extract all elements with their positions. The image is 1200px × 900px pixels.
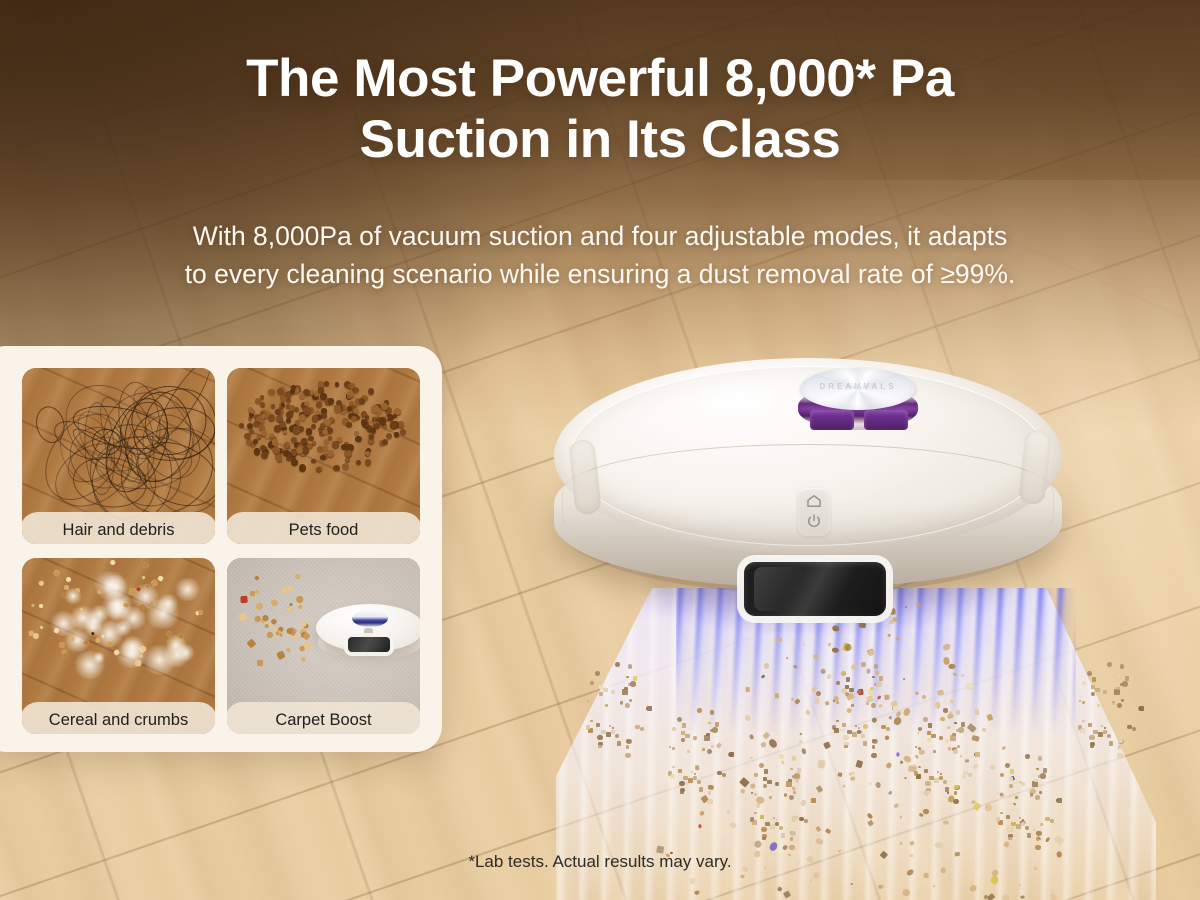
debris-particle (934, 778, 938, 782)
debris-particle (966, 683, 974, 691)
debris-particle (791, 816, 797, 822)
debris-particle (1009, 784, 1013, 788)
debris-particle (751, 792, 753, 794)
debris-particle (1088, 723, 1092, 727)
debris-particle (872, 745, 875, 748)
debris-particle (844, 745, 847, 748)
debris-particle (943, 708, 948, 713)
debris-particle (1025, 826, 1029, 830)
debris-particle (749, 734, 754, 740)
debris-particle (899, 760, 903, 764)
debris-particle (843, 735, 848, 740)
debris-particle (896, 753, 899, 757)
debris-particle (886, 727, 891, 732)
debris-particle (754, 793, 757, 796)
scenario-caption: Hair and debris (22, 512, 215, 544)
debris-particle (764, 663, 770, 670)
brand-embossing: DREAMVALS (800, 382, 916, 391)
debris-particle (975, 709, 979, 715)
lidar-metal-cap: DREAMVALS (800, 368, 916, 410)
debris-particle (668, 771, 672, 775)
debris-particle (694, 890, 700, 895)
debris-particle (1013, 802, 1017, 806)
debris-particle (851, 704, 854, 707)
debris-particle (973, 763, 979, 769)
debris-particle (784, 793, 787, 796)
debris-particle (836, 701, 839, 704)
debris-particle (845, 692, 849, 696)
debris-particle (1016, 824, 1020, 828)
debris-particle (915, 746, 917, 748)
debris-particle (595, 671, 600, 676)
debris-particle (685, 734, 690, 739)
debris-particle (954, 791, 957, 794)
debris-particle (620, 701, 623, 704)
debris-particle (765, 822, 769, 826)
debris-particle (775, 782, 779, 786)
debris-particle (939, 776, 943, 780)
debris-particle (934, 702, 940, 709)
debris-particle (699, 787, 703, 791)
debris-particle (1050, 894, 1056, 900)
debris-particle (997, 792, 999, 794)
debris-particle (943, 780, 947, 784)
debris-particle (1039, 823, 1043, 827)
debris-particle (915, 691, 919, 695)
debris-particle (1006, 815, 1010, 819)
debris-particle (1120, 664, 1125, 669)
debris-particle (1125, 676, 1129, 680)
debris-particle (809, 879, 811, 882)
debris-particle (779, 826, 783, 830)
debris-particle (694, 773, 696, 775)
debris-particle (600, 677, 604, 681)
debris-particle (1045, 837, 1051, 843)
debris-particle (1050, 819, 1055, 824)
debris-particle (925, 781, 930, 786)
debris-particle (708, 791, 711, 794)
debris-particle (958, 727, 963, 732)
debris-particle (1001, 894, 1009, 900)
debris-particle (606, 732, 610, 736)
debris-particle (615, 734, 619, 738)
debris-particle (1036, 837, 1039, 840)
debris-particle (598, 745, 601, 748)
debris-particle (704, 735, 710, 741)
debris-particle (953, 672, 958, 676)
debris-particle (806, 710, 811, 716)
scenario-grid: Hair and debrisPets foodCereal and crumb… (22, 368, 420, 734)
debris-particle (754, 773, 758, 777)
debris-particle (767, 780, 772, 785)
debris-particle (1097, 704, 1100, 707)
debris-particle (1095, 688, 1100, 693)
debris-particle (633, 676, 637, 680)
page-headline: The Most Powerful 8,000* Pa Suction in I… (0, 48, 1200, 171)
debris-particle (785, 657, 788, 660)
debris-particle (722, 773, 727, 778)
debris-particle (1122, 681, 1127, 686)
debris-particle (915, 754, 919, 759)
debris-particle (683, 776, 687, 780)
debris-particle (889, 716, 892, 719)
debris-particle (1043, 768, 1047, 772)
debris-particle (952, 733, 956, 737)
debris-particle (707, 749, 712, 754)
debris-particle (838, 773, 842, 778)
debris-particle (1040, 773, 1045, 778)
debris-particle (869, 783, 872, 786)
debris-particle (702, 747, 705, 750)
debris-particle (917, 731, 919, 734)
debris-particle (782, 844, 789, 851)
home-icon[interactable] (805, 492, 823, 510)
debris-particle (625, 703, 630, 708)
debris-particle (948, 747, 951, 750)
debris-particle (775, 822, 779, 826)
debris-particle (647, 706, 651, 710)
debris-particle (768, 841, 778, 852)
debris-particle (679, 781, 684, 786)
debris-particle (929, 776, 933, 780)
debris-particle (760, 815, 764, 819)
debris-particle (712, 727, 717, 732)
debris-particle (605, 704, 608, 707)
power-icon[interactable] (805, 512, 823, 530)
debris-particle (681, 738, 685, 742)
debris-particle (933, 885, 936, 888)
debris-particle (816, 825, 822, 831)
debris-particle (1000, 773, 1004, 777)
debris-particle (945, 787, 949, 791)
debris-particle (1109, 741, 1113, 745)
debris-particle (944, 739, 949, 744)
debris-particle (861, 662, 866, 667)
debris-particle (833, 700, 835, 702)
debris-particle (1021, 895, 1025, 898)
debris-particle (1112, 702, 1116, 706)
debris-particle (769, 796, 772, 799)
sensor-glare (754, 567, 806, 611)
debris-particle (953, 749, 958, 754)
debris-particle (884, 735, 889, 740)
debris-particle (1139, 706, 1143, 710)
debris-particle (672, 727, 676, 731)
debris-particle (590, 681, 594, 685)
debris-particle (762, 731, 770, 739)
debris-particle (812, 654, 818, 659)
debris-particle (680, 791, 683, 794)
debris-particle (669, 746, 671, 748)
debris-particle (793, 665, 798, 669)
debris-particle (776, 819, 778, 821)
debris-particle (1090, 745, 1093, 748)
scenario-card[interactable]: Pets food (227, 368, 420, 544)
debris-particle (938, 689, 945, 695)
debris-particle (1027, 833, 1031, 837)
debris-particle (794, 773, 799, 778)
debris-particle (629, 699, 632, 702)
debris-particle (820, 668, 826, 674)
debris-particle (892, 716, 902, 727)
debris-particle (1078, 725, 1082, 729)
debris-particle (843, 784, 846, 787)
debris-particle (754, 812, 756, 814)
debris-particle (903, 678, 906, 681)
debris-particle (954, 722, 956, 724)
debris-particle (855, 725, 858, 728)
debris-particle (697, 708, 702, 713)
debris-particle (832, 725, 836, 729)
debris-particle (812, 803, 815, 807)
debris-particle (740, 789, 745, 794)
debris-particle (799, 732, 801, 734)
debris-particle (1039, 791, 1042, 794)
debris-particle (1118, 739, 1123, 744)
debris-particle (672, 766, 674, 768)
debris-particle (730, 822, 737, 829)
debris-particle (760, 741, 767, 748)
robot-control-pad[interactable] (798, 488, 830, 536)
debris-particle (1030, 793, 1033, 796)
debris-particle (877, 884, 884, 890)
debris-particle (842, 723, 846, 727)
debris-particle (626, 739, 632, 745)
debris-particle (1082, 701, 1085, 704)
debris-particle (1082, 720, 1084, 722)
debris-particle (872, 739, 877, 744)
debris-particle (744, 714, 752, 722)
lidar-window-right (864, 410, 908, 430)
debris-particle (850, 776, 856, 781)
debris-particle (901, 653, 904, 657)
debris-particle (707, 799, 713, 805)
debris-particle (903, 707, 912, 716)
robot-front-sensor-window (744, 562, 886, 616)
debris-particle (611, 730, 615, 734)
mini-robot-sensor-window (348, 637, 390, 652)
debris-particle (789, 845, 795, 851)
debris-particle (872, 676, 874, 678)
debris-particle (815, 838, 823, 845)
debris-particle (590, 701, 593, 704)
debris-particle (961, 674, 964, 678)
debris-particle (901, 887, 910, 896)
debris-particle (969, 884, 979, 893)
debris-particle (1003, 842, 1009, 849)
scenario-card[interactable]: Carpet Boost (227, 558, 420, 734)
scenario-caption-label: Cereal and crumbs (49, 711, 188, 730)
debris-particle (773, 817, 776, 820)
debris-particle (996, 817, 1000, 821)
debris-particle (975, 752, 979, 756)
debris-particle (762, 837, 765, 840)
debris-particle (1093, 730, 1097, 734)
debris-particle (745, 686, 749, 691)
scenario-card[interactable]: Cereal and crumbs (22, 558, 215, 734)
debris-particle (876, 681, 881, 686)
debris-particle (792, 756, 797, 761)
debris-particle (710, 710, 715, 715)
debris-particle (615, 662, 620, 667)
debris-particle (711, 745, 714, 748)
debris-particle (836, 681, 840, 685)
debris-particle (1035, 795, 1040, 800)
debris-particle (1079, 700, 1081, 702)
debris-particle (612, 727, 614, 729)
debris-particle (846, 677, 850, 681)
debris-particle (943, 820, 949, 825)
debris-particle (1118, 676, 1120, 678)
debris-particle (872, 718, 878, 724)
debris-particle (677, 717, 682, 722)
debris-particle (899, 815, 902, 819)
debris-particle (789, 795, 794, 800)
debris-particle (688, 778, 692, 782)
debris-particle (749, 783, 756, 790)
debris-particle (1098, 732, 1102, 736)
debris-particle (800, 799, 807, 806)
debris-particle (1018, 883, 1020, 885)
debris-particle (816, 785, 823, 793)
debris-particle (804, 819, 809, 824)
debris-particle (875, 782, 881, 789)
debris-particle (961, 722, 965, 726)
scenario-caption-label: Carpet Boost (275, 711, 371, 730)
debris-particle (1101, 725, 1104, 728)
debris-particle (949, 699, 954, 704)
debris-particle (1117, 753, 1123, 759)
debris-particle (750, 757, 753, 759)
debris-particle (918, 766, 920, 768)
debris-particle (603, 688, 608, 693)
debris-particle (1107, 662, 1112, 667)
debris-particle (847, 730, 851, 734)
debris-particle (823, 741, 831, 749)
debris-particle (1036, 768, 1038, 770)
debris-particle (793, 791, 796, 794)
debris-particle (609, 725, 612, 728)
debris-particle (866, 701, 869, 704)
debris-particle (1038, 756, 1043, 761)
debris-particle (597, 735, 602, 740)
debris-particle (923, 809, 929, 814)
debris-particle (866, 669, 871, 675)
debris-particle (990, 765, 996, 770)
debris-particle (678, 769, 682, 773)
scenario-card[interactable]: Hair and debris (22, 368, 215, 544)
debris-particle (849, 688, 854, 693)
debris-particle (885, 762, 892, 769)
debris-particle (754, 840, 763, 849)
debris-particle (1082, 681, 1086, 685)
debris-particle (1015, 796, 1018, 799)
debris-particle (729, 752, 733, 756)
debris-particle (1013, 780, 1018, 785)
debris-particle (761, 827, 766, 832)
debris-particle (954, 785, 959, 790)
debris-particle (1089, 735, 1094, 740)
debris-particle (687, 750, 690, 753)
debris-particle (770, 824, 774, 828)
debris-particle (611, 690, 615, 694)
debris-particle (815, 698, 820, 704)
debris-particle (1087, 671, 1092, 676)
mini-lidar-turret (352, 610, 388, 627)
debris-particle (596, 723, 600, 727)
debris-particle (783, 891, 791, 899)
debris-particle (1000, 812, 1002, 814)
debris-particle (847, 708, 852, 714)
scenario-caption-label: Pets food (289, 521, 359, 540)
debris-particle (801, 748, 807, 754)
debris-particle (695, 765, 699, 770)
lidar-turret: DREAMVALS (796, 368, 920, 434)
debris-particle (797, 768, 801, 772)
debris-particle (924, 873, 929, 878)
debris-particle (779, 754, 784, 759)
debris-particle (739, 777, 750, 788)
debris-particle (863, 741, 867, 745)
debris-particle (628, 664, 633, 669)
debris-particle (1034, 779, 1038, 783)
lidar-window-left (810, 410, 854, 430)
scenario-caption: Cereal and crumbs (22, 702, 215, 734)
debris-particle (923, 717, 928, 722)
debris-particle (791, 698, 793, 701)
debris-particle (759, 763, 764, 768)
debris-particle (626, 676, 628, 678)
debris-particle (672, 747, 675, 750)
debris-particle (587, 700, 589, 702)
debris-particle (904, 777, 907, 780)
debris-particle (857, 690, 861, 694)
debris-particle (1005, 763, 1010, 768)
debris-particle (1091, 692, 1095, 696)
debris-particle (1052, 879, 1062, 888)
disclaimer-footnote: *Lab tests. Actual results may vary. (0, 852, 1200, 872)
debris-particle (708, 722, 710, 724)
debris-particle (699, 810, 706, 817)
debris-particle (815, 690, 822, 697)
debris-particle (626, 745, 629, 748)
debris-particle (927, 738, 931, 742)
debris-particle (622, 689, 628, 695)
debris-particle (851, 772, 854, 775)
debris-particle (1107, 734, 1111, 738)
page-subheadline: With 8,000Pa of vacuum suction and four … (65, 218, 1135, 293)
debris-particle (924, 769, 928, 773)
debris-particle (1011, 822, 1015, 826)
debris-particle (798, 739, 802, 743)
debris-particle (715, 722, 719, 726)
debris-particle (811, 798, 815, 802)
debris-particle (761, 674, 766, 679)
debris-particle (601, 730, 605, 734)
debris-particle (939, 736, 943, 740)
debris-particle (763, 784, 767, 788)
debris-particle (781, 833, 785, 837)
debris-particle (1021, 822, 1025, 826)
debris-particle (940, 716, 946, 722)
debris-particle (922, 694, 927, 699)
debris-particle (1057, 798, 1061, 802)
debris-particle (697, 780, 701, 784)
debris-particle (947, 726, 951, 730)
debris-particle (871, 753, 877, 759)
promo-stage: DREAMVALS The Most Powerful 8,000* Pa Su… (0, 0, 1200, 900)
debris-particle (867, 820, 874, 827)
